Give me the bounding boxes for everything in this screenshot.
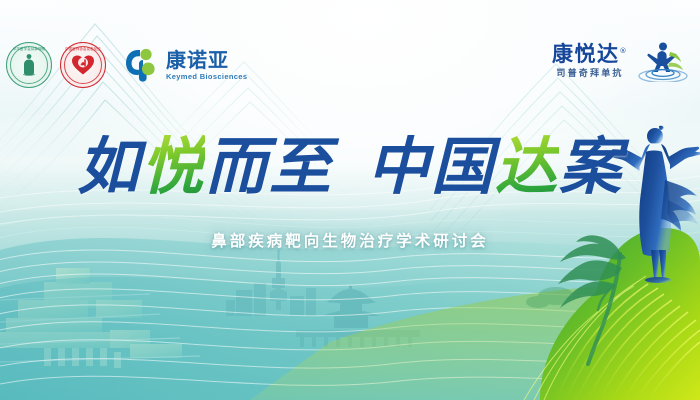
kangyueda-logo: 康悦达® 司普奇拜单抗 (552, 40, 690, 82)
seal-micro-text: 中华医学会耳鼻咽喉 (6, 48, 52, 51)
kangyueda-name-text: 康悦达 (552, 42, 620, 66)
trademark-symbol: ® (620, 47, 629, 55)
keymed-logo: 康诺亚 Keymed Biosciences (124, 47, 247, 83)
keymed-cn-name: 康诺亚 (166, 50, 247, 70)
keymed-person-mark-icon (124, 47, 160, 83)
kangyueda-cn-name: 康悦达® (552, 44, 628, 65)
kangyueda-text: 康悦达® 司普奇拜单抗 (552, 44, 628, 79)
red-health-association-seal: 中国医师协会变态反应 (60, 42, 106, 88)
person-ripple-mark-icon (636, 40, 690, 82)
green-medical-association-seal: 中华医学会耳鼻咽喉 (6, 42, 52, 88)
kangyueda-drug-name: 司普奇拜单抗 (556, 70, 623, 79)
keymed-text: 康诺亚 Keymed Biosciences (166, 50, 247, 81)
partner-logos-left: 中华医学会耳鼻咽喉 中国医师协会变态反应 (6, 42, 247, 88)
seal-emblem-heart (71, 53, 95, 80)
event-banner: 中华医学会耳鼻咽喉 中国医师协会变态反应 (0, 0, 700, 400)
seal-emblem-figure (19, 52, 39, 81)
keymed-en-name: Keymed Biosciences (166, 73, 247, 81)
event-subtitle: 鼻部疾病靶向生物治疗学术研讨会 (0, 229, 700, 251)
seal-micro-text: 中国医师协会变态反应 (60, 48, 106, 51)
